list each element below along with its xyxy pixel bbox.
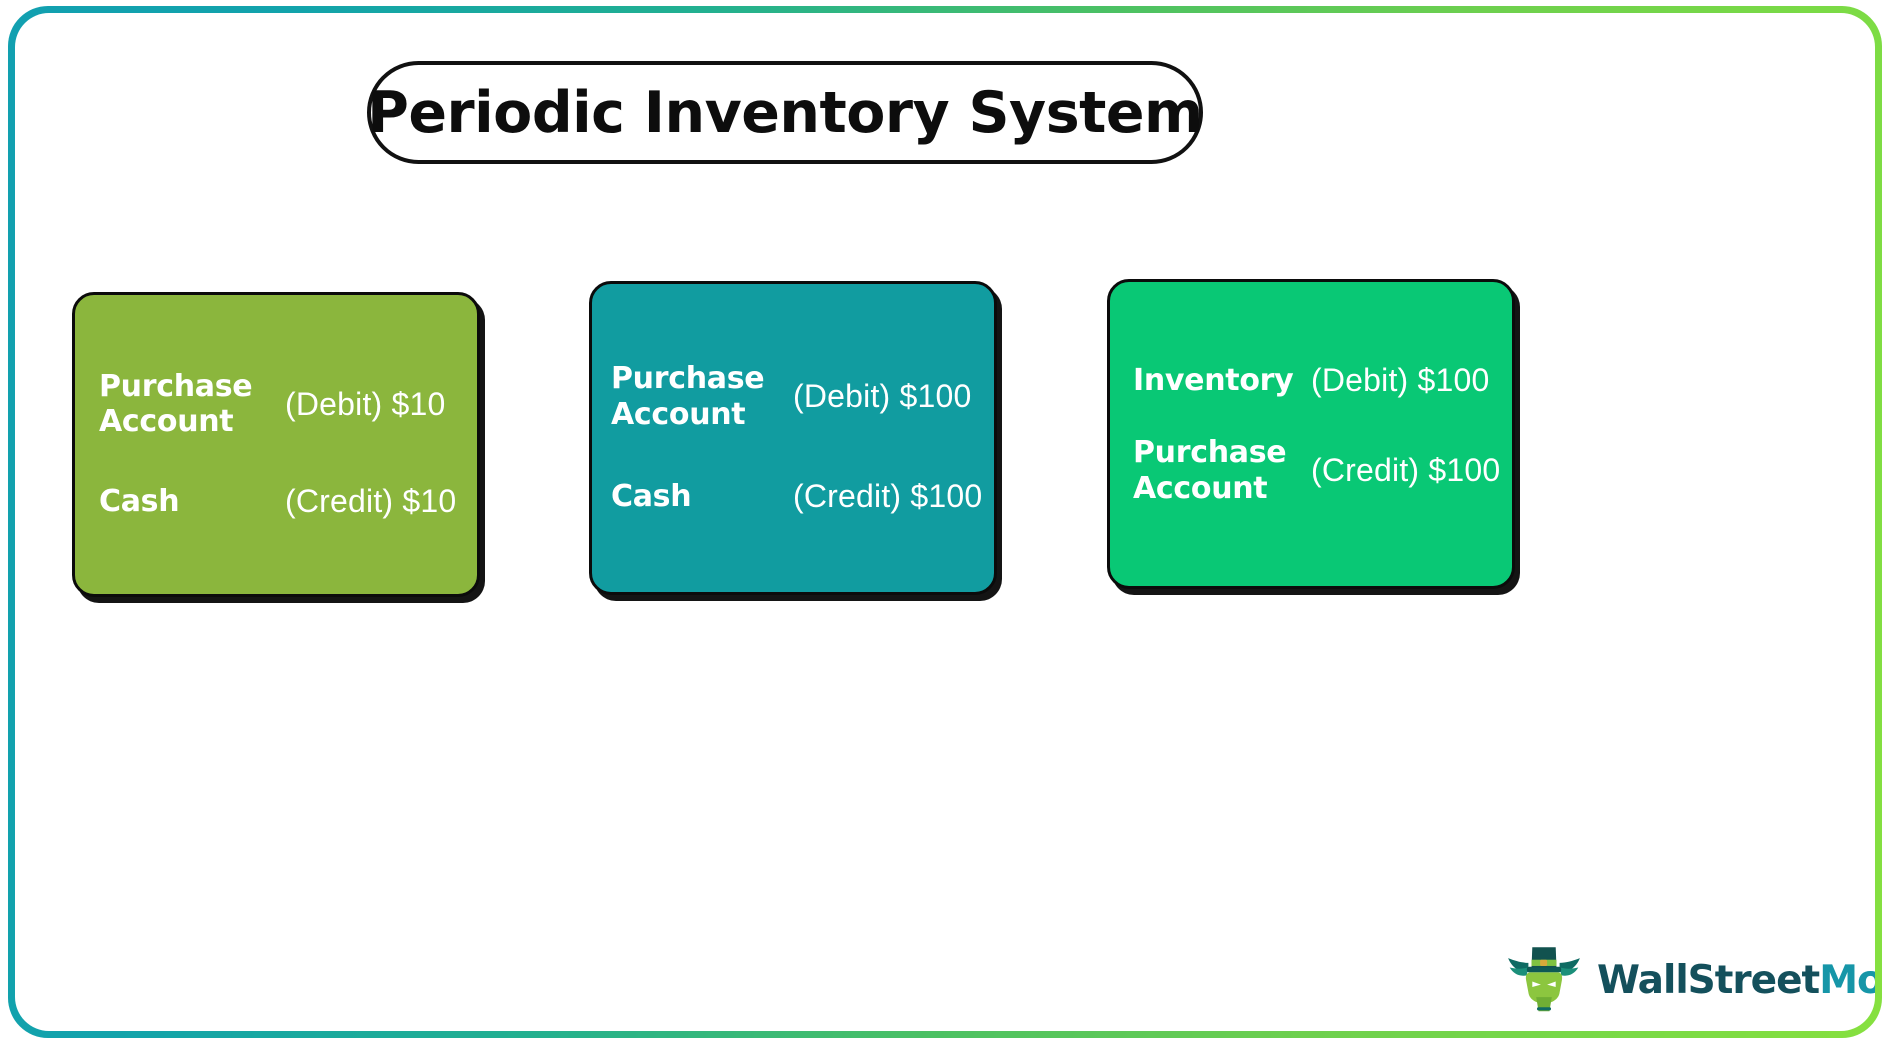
journal-entry-card-1: Purchase Account (Debit) $10 Cash (Credi…: [72, 292, 480, 597]
bull-mascot-with-top-hat-icon: [1505, 941, 1583, 1019]
logo-word-wallstreet: WallStreet: [1597, 958, 1819, 1003]
page-frame: Periodic Inventory System Purchase Accou…: [8, 6, 1882, 1038]
card-1-entry-value-credit: (Credit) $10: [285, 483, 456, 520]
card-1-entry-row-debit: Purchase Account (Debit) $10: [99, 369, 477, 440]
card-2-entry-row-debit: Purchase Account (Debit) $100: [611, 361, 994, 432]
card-3-entry-row-debit: Inventory (Debit) $100: [1133, 362, 1512, 399]
journal-entry-card-row: Purchase Account (Debit) $10 Cash (Credi…: [15, 281, 1875, 611]
card-3-entry-label-debit: Inventory: [1133, 363, 1311, 398]
page-canvas: Periodic Inventory System Purchase Accou…: [15, 13, 1875, 1031]
card-3-entry-label-credit: Purchase Account: [1133, 435, 1311, 506]
card-3-body: Inventory (Debit) $100 Purchase Account …: [1110, 282, 1512, 586]
card-1-entry-label-credit: Cash: [99, 484, 285, 519]
journal-entry-card-2: Purchase Account (Debit) $100 Cash (Cred…: [589, 281, 997, 595]
wallstreetmojo-logo: WallStreetMojo: [1505, 941, 1875, 1019]
card-1-entry-label-debit: Purchase Account: [99, 369, 285, 440]
card-2-entry-row-credit: Cash (Credit) $100: [611, 478, 994, 515]
logo-wordmark: WallStreetMojo: [1597, 958, 1875, 1003]
card-3-entry-value-debit: (Debit) $100: [1311, 362, 1490, 399]
card-1-entry-value-debit: (Debit) $10: [285, 386, 446, 423]
logo-word-mojo: Mojo: [1819, 958, 1875, 1003]
page-title-pill: Periodic Inventory System: [367, 61, 1203, 164]
page-title: Periodic Inventory System: [367, 80, 1203, 146]
card-2-entry-value-debit: (Debit) $100: [793, 378, 972, 415]
card-2-entry-label-debit: Purchase Account: [611, 361, 793, 432]
card-2-entry-label-credit: Cash: [611, 479, 793, 514]
card-2-body: Purchase Account (Debit) $100 Cash (Cred…: [592, 284, 994, 592]
card-1-entry-row-credit: Cash (Credit) $10: [99, 483, 477, 520]
journal-entry-card-3: Inventory (Debit) $100 Purchase Account …: [1107, 279, 1515, 589]
card-3-entry-row-credit: Purchase Account (Credit) $100: [1133, 435, 1512, 506]
card-1-body: Purchase Account (Debit) $10 Cash (Credi…: [75, 295, 477, 594]
card-3-entry-value-credit: (Credit) $100: [1311, 452, 1500, 489]
card-2-entry-value-credit: (Credit) $100: [793, 478, 982, 515]
